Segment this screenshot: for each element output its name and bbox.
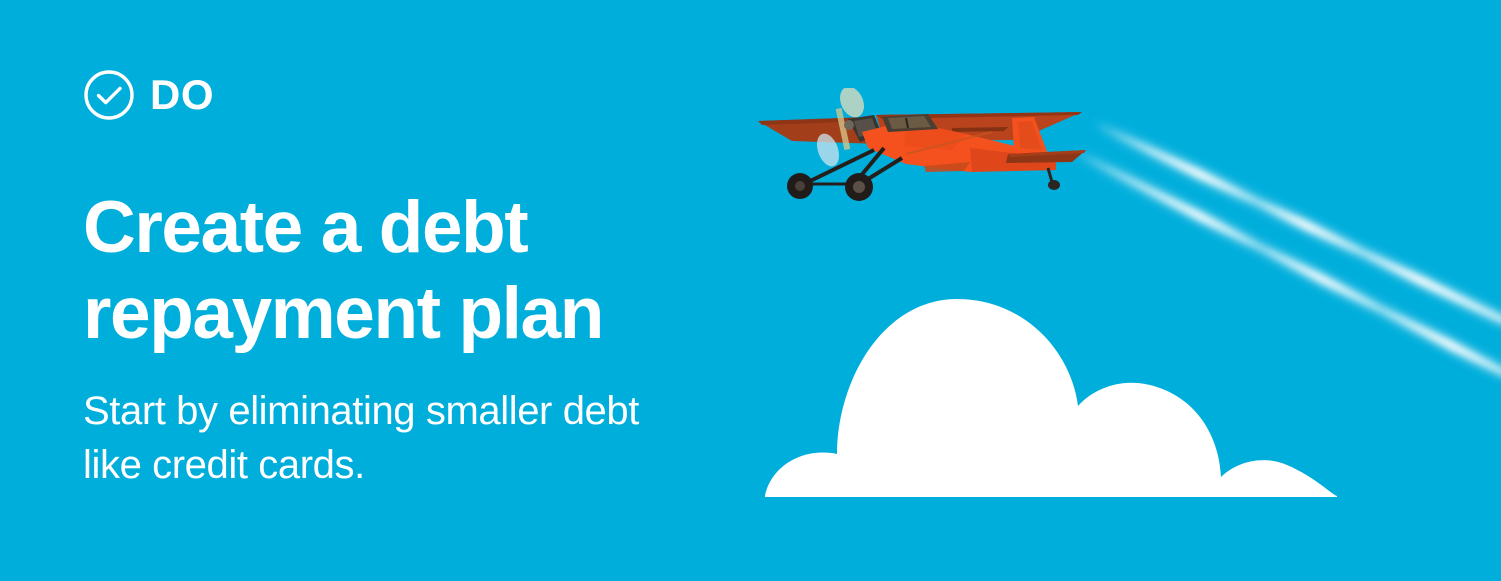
propeller-airplane (756, 88, 1096, 228)
illustration (741, 0, 1501, 581)
do-label: DO (150, 74, 214, 116)
page-title: Create a debt repayment plan (83, 185, 763, 357)
page-subtitle: Start by eliminating smaller debt like c… (83, 385, 703, 492)
check-circle-icon (83, 69, 135, 121)
do-badge: DO (83, 69, 214, 121)
do-tip-banner: DO Create a debt repayment plan Start by… (0, 0, 1501, 581)
text-column: DO Create a debt repayment plan Start by… (83, 0, 743, 581)
